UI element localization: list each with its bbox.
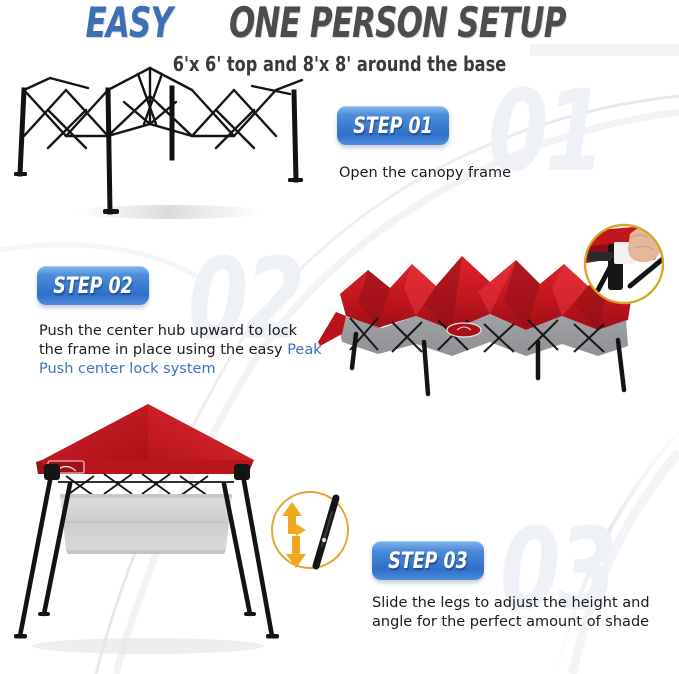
page-title: EASYONE PERSON SETUP — [0, 0, 679, 47]
title-accent-word: EASY — [86, 0, 173, 47]
page-subtitle: 6'x 6' top and 8'x 8' around the base — [34, 52, 645, 76]
assembled-canopy-illustration — [8, 398, 288, 660]
step-01-badge[interactable]: STEP 01 — [337, 106, 449, 145]
step-01-badge-label: STEP 01 — [344, 107, 443, 145]
step-02-description-lead: Push the center hub upward to lock the f… — [39, 323, 297, 358]
step-03-description: Slide the legs to adjust the height and … — [372, 594, 652, 632]
step-02-badge-label: STEP 02 — [44, 267, 143, 305]
leg-height-adjust-inset — [262, 482, 358, 588]
subtitle-text: 6'x 6' top and 8'x 8' around the base — [173, 52, 506, 76]
step-02-description: Push the center hub upward to lock the f… — [39, 322, 324, 379]
infographic-canvas: 01 02 03 EASYONE PERSON SETUP 6'x 6' top… — [0, 0, 679, 674]
peak-push-hub-inset — [568, 214, 679, 326]
step-03-badge[interactable]: STEP 03 — [372, 541, 484, 580]
step-01-description: Open the canopy frame — [339, 164, 639, 183]
step-02-badge[interactable]: STEP 02 — [37, 266, 149, 305]
step-03-badge-label: STEP 03 — [379, 542, 478, 580]
canopy-frame-illustration — [4, 62, 324, 222]
title-rest-words: ONE PERSON SETUP — [229, 0, 566, 47]
